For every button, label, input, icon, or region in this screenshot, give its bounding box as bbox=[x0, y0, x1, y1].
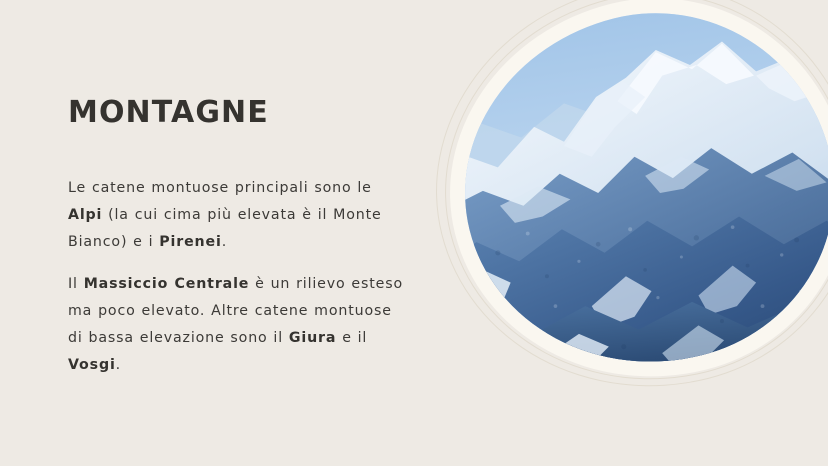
decorative-graphic bbox=[418, 0, 828, 446]
emphasis-text: Giura bbox=[289, 330, 336, 346]
plain-text: Le catene montuose principali sono le bbox=[68, 180, 372, 196]
mountain-photo bbox=[428, 0, 828, 402]
body-paragraph-2: Il Massiccio Centrale è un rilievo estes… bbox=[68, 271, 408, 379]
emphasis-text: Vosgi bbox=[68, 357, 116, 373]
page-title: MONTAGNE bbox=[68, 96, 408, 129]
mountain-photo-illustration bbox=[436, 0, 828, 391]
plain-text: . bbox=[116, 357, 121, 373]
plain-text: Il bbox=[68, 276, 84, 292]
plain-text: . bbox=[222, 234, 227, 250]
body-paragraph-1: Le catene montuose principali sono le Al… bbox=[68, 175, 408, 256]
text-column: MONTAGNE Le catene montuose principali s… bbox=[68, 96, 408, 379]
emphasis-text: Pirenei bbox=[159, 234, 221, 250]
slide: MONTAGNE Le catene montuose principali s… bbox=[0, 0, 828, 466]
plain-text: e il bbox=[336, 330, 367, 346]
mountain-photo-inner bbox=[436, 0, 828, 391]
emphasis-text: Massiccio Centrale bbox=[84, 276, 250, 292]
emphasis-text: Alpi bbox=[68, 207, 102, 223]
